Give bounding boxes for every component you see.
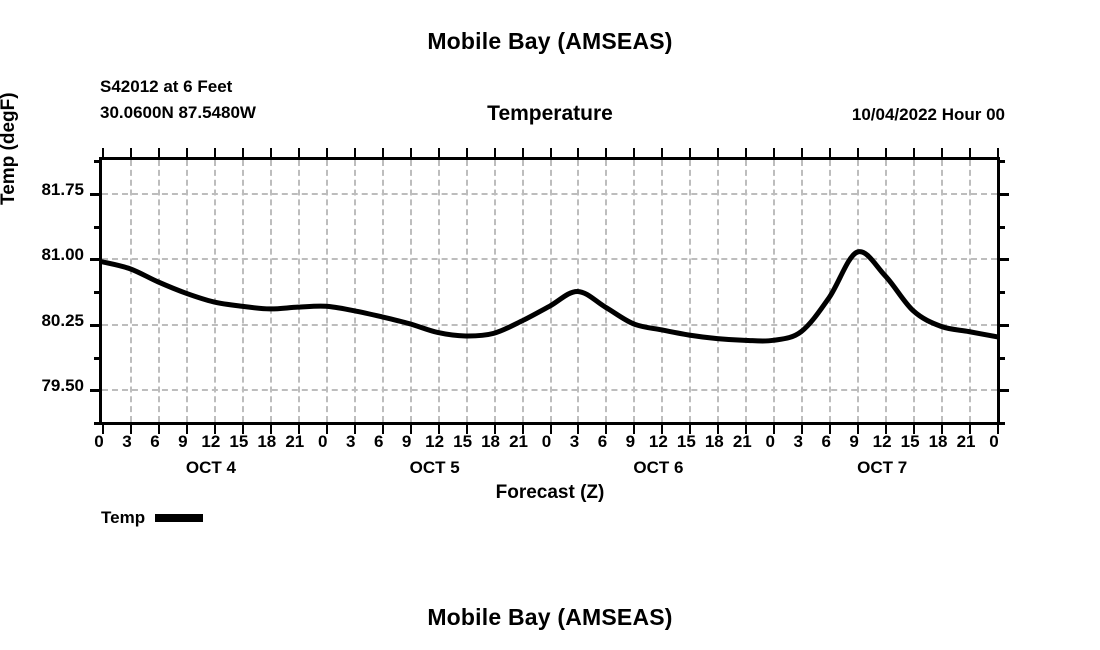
x-axis-tick-top <box>326 148 328 160</box>
x-axis-label: 12 <box>425 432 444 452</box>
legend: Temp <box>101 508 203 528</box>
series-line-temp <box>102 252 997 341</box>
x-axis-tick-top <box>158 148 160 160</box>
y-axis-minor-tick-right <box>997 291 1005 294</box>
x-axis-tick-top <box>130 148 132 160</box>
plot-area <box>99 157 1000 425</box>
y-axis-minor-tick-right <box>997 357 1005 360</box>
x-axis-label: 21 <box>733 432 752 452</box>
x-axis-label: 6 <box>150 432 159 452</box>
x-axis-tick-top <box>550 148 552 160</box>
y-axis-label: 81.00 <box>41 245 84 265</box>
x-axis-label: 18 <box>929 432 948 452</box>
x-axis-tick-top <box>633 148 635 160</box>
y-axis-minor-tick <box>94 357 102 360</box>
y-axis-tick <box>90 193 102 196</box>
x-axis-tick-top <box>214 148 216 160</box>
y-axis-tick-right <box>997 258 1009 261</box>
x-axis-label: 9 <box>178 432 187 452</box>
x-axis-tick-top <box>466 148 468 160</box>
x-axis-label: 15 <box>677 432 696 452</box>
y-axis-label: 80.25 <box>41 311 84 331</box>
x-axis-tick-top <box>410 148 412 160</box>
forecast-chart-page: Mobile Bay (AMSEAS) S42012 at 6 Feet 30.… <box>0 0 1100 650</box>
x-axis-label: 18 <box>481 432 500 452</box>
x-axis-label: 0 <box>766 432 775 452</box>
x-axis-label: 21 <box>957 432 976 452</box>
x-axis-tick-top <box>298 148 300 160</box>
x-axis-label: 9 <box>402 432 411 452</box>
x-axis-tick-top <box>997 148 999 160</box>
x-axis-label: 18 <box>705 432 724 452</box>
x-axis-label: 15 <box>901 432 920 452</box>
x-axis-label: 12 <box>873 432 892 452</box>
series-layer <box>102 160 997 422</box>
y-axis-tick-right <box>997 389 1009 392</box>
x-axis-tick-top <box>270 148 272 160</box>
legend-label-temp: Temp <box>101 508 145 528</box>
y-axis-label: 79.50 <box>41 376 84 396</box>
x-axis-tick-top <box>354 148 356 160</box>
x-axis-tick-top <box>494 148 496 160</box>
x-axis-tick-top <box>577 148 579 160</box>
station-depth-line: S42012 at 6 Feet <box>100 74 256 100</box>
x-axis-tick-top <box>941 148 943 160</box>
x-axis-label: 6 <box>598 432 607 452</box>
y-axis-label: 81.75 <box>41 180 84 200</box>
x-axis-label: 0 <box>318 432 327 452</box>
y-axis-tick <box>90 258 102 261</box>
y-axis-tick <box>90 389 102 392</box>
x-axis-label: 6 <box>374 432 383 452</box>
x-axis-label: 3 <box>793 432 802 452</box>
x-axis-label: 0 <box>989 432 998 452</box>
x-axis-day-label: OCT 6 <box>633 458 683 478</box>
y-axis-minor-tick <box>94 291 102 294</box>
y-axis-minor-tick <box>94 226 102 229</box>
y-axis-minor-tick <box>94 160 102 163</box>
x-axis-tick-top <box>661 148 663 160</box>
x-axis-label: 3 <box>570 432 579 452</box>
y-axis-tick-right <box>997 324 1009 327</box>
y-axis-tick <box>90 324 102 327</box>
x-axis-tick-top <box>102 148 104 160</box>
y-axis-minor-tick-right <box>997 160 1005 163</box>
x-axis-day-label: OCT 4 <box>186 458 236 478</box>
x-axis-tick-top <box>382 148 384 160</box>
y-axis-tick-right <box>997 193 1009 196</box>
x-axis-tick-top <box>745 148 747 160</box>
x-axis-label: 12 <box>649 432 668 452</box>
x-axis-tick-top <box>885 148 887 160</box>
x-axis-tick-top <box>773 148 775 160</box>
x-axis-label: 15 <box>453 432 472 452</box>
x-axis-day-label: OCT 7 <box>857 458 907 478</box>
y-axis-minor-tick-right <box>997 226 1005 229</box>
x-axis-tick-top <box>829 148 831 160</box>
x-axis-label: 3 <box>346 432 355 452</box>
x-axis-label: 9 <box>849 432 858 452</box>
x-axis-tick-top <box>969 148 971 160</box>
x-axis-label: 9 <box>626 432 635 452</box>
plot-inner <box>102 160 997 422</box>
x-axis-tick-top <box>522 148 524 160</box>
x-axis-label: 18 <box>257 432 276 452</box>
x-axis-label: 12 <box>201 432 220 452</box>
x-axis-label: 0 <box>542 432 551 452</box>
x-axis-label: 3 <box>122 432 131 452</box>
legend-swatch-temp <box>155 514 203 522</box>
x-axis-tick-top <box>605 148 607 160</box>
x-axis-tick-top <box>857 148 859 160</box>
x-axis-tick-top <box>913 148 915 160</box>
x-axis-tick-top <box>438 148 440 160</box>
x-axis-label: 21 <box>509 432 528 452</box>
x-axis-label: 6 <box>821 432 830 452</box>
x-axis-tick-top <box>717 148 719 160</box>
x-axis-tick-top <box>242 148 244 160</box>
page-title-top: Mobile Bay (AMSEAS) <box>0 28 1100 55</box>
x-axis-label: 0 <box>94 432 103 452</box>
x-axis-label: 21 <box>285 432 304 452</box>
page-title-bottom: Mobile Bay (AMSEAS) <box>0 604 1100 631</box>
x-axis-tick-top <box>186 148 188 160</box>
x-axis-title: Forecast (Z) <box>0 482 1100 504</box>
model-run-time: 10/04/2022 Hour 00 <box>852 105 1005 125</box>
y-axis-minor-tick <box>94 422 102 425</box>
x-axis-label: 15 <box>229 432 248 452</box>
y-axis-title: Temp (degF) <box>0 92 20 205</box>
x-axis-tick-top <box>801 148 803 160</box>
x-axis-day-label: OCT 5 <box>410 458 460 478</box>
x-axis-tick-top <box>689 148 691 160</box>
